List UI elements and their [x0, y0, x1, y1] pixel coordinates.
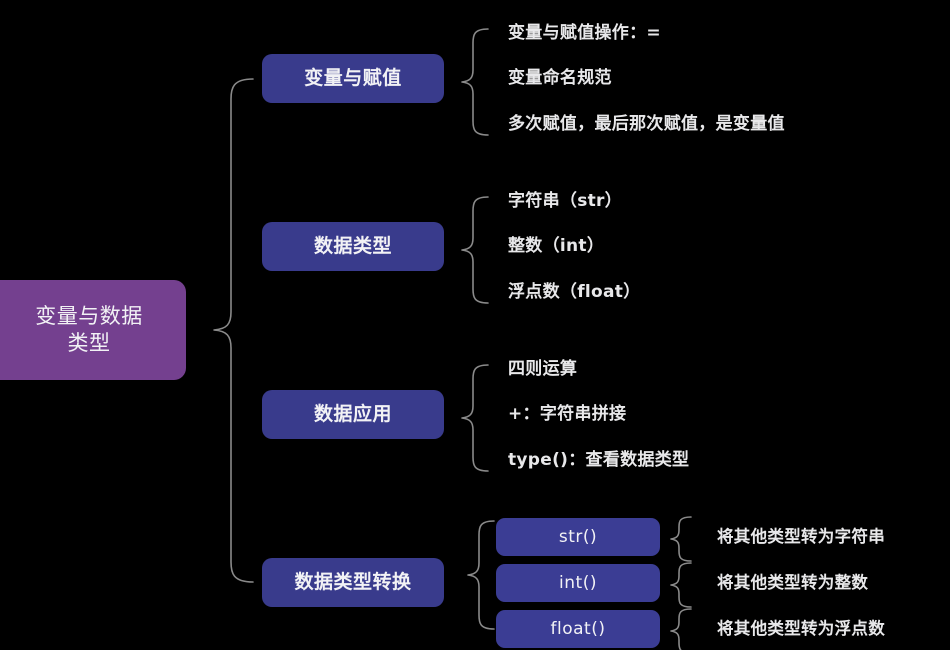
leaf-text-b3-i2: +：字符串拼接 [508, 406, 626, 423]
leaf-box-label: int() [559, 572, 597, 594]
root-node-label-line2: 类型 [35, 330, 143, 357]
brace-branch-3 [462, 365, 488, 471]
leaf-box-float[interactable]: float() [496, 610, 660, 648]
brace-root [214, 79, 253, 582]
leaf-box-int[interactable]: int() [496, 564, 660, 602]
root-node-label: 变量与数据 类型 [35, 303, 143, 358]
leaf-text-int-desc: 将其他类型转为整数 [717, 575, 868, 592]
root-node[interactable]: 变量与数据 类型 [0, 280, 186, 380]
leaf-text-b1-i2: 变量命名规范 [508, 70, 612, 87]
branch-node-data-types[interactable]: 数据类型 [262, 222, 444, 271]
leaf-text-b2-i3: 浮点数（float） [508, 284, 641, 301]
brace-box-int [671, 563, 691, 607]
root-node-label-line1: 变量与数据 [35, 303, 143, 330]
leaf-box-str[interactable]: str() [496, 518, 660, 556]
leaf-text-b2-i2: 整数（int） [508, 238, 604, 255]
branch-node-label: 变量与赋值 [304, 66, 402, 91]
branch-node-label: 数据类型转换 [294, 570, 411, 595]
branch-node-type-conversion[interactable]: 数据类型转换 [262, 558, 444, 607]
brace-box-float [671, 609, 691, 650]
branch-node-label: 数据应用 [314, 402, 392, 427]
leaf-box-label: str() [559, 526, 597, 548]
leaf-text-str-desc: 将其他类型转为字符串 [717, 529, 885, 546]
branch-node-variables-assignment[interactable]: 变量与赋值 [262, 54, 444, 103]
leaf-text-b3-i1: 四则运算 [508, 361, 577, 378]
brace-branch-1 [462, 29, 488, 135]
branch-node-label: 数据类型 [314, 234, 392, 259]
leaf-text-b1-i3: 多次赋值，最后那次赋值，是变量值 [508, 116, 785, 133]
brace-branch-2 [462, 197, 488, 303]
leaf-text-b1-i1: 变量与赋值操作：= [508, 25, 661, 42]
mindmap-canvas: 变量与数据 类型 变量与赋值 变量与赋值操作：= 变量命名规范 多次赋值，最后那… [0, 0, 950, 650]
leaf-box-label: float() [551, 618, 606, 640]
leaf-text-b2-i1: 字符串（str） [508, 193, 622, 210]
leaf-text-b3-i3: type()：查看数据类型 [508, 452, 689, 469]
branch-node-data-application[interactable]: 数据应用 [262, 390, 444, 439]
leaf-text-float-desc: 将其他类型转为浮点数 [717, 621, 885, 638]
brace-branch-4 [468, 521, 494, 629]
brace-box-str [671, 517, 691, 561]
